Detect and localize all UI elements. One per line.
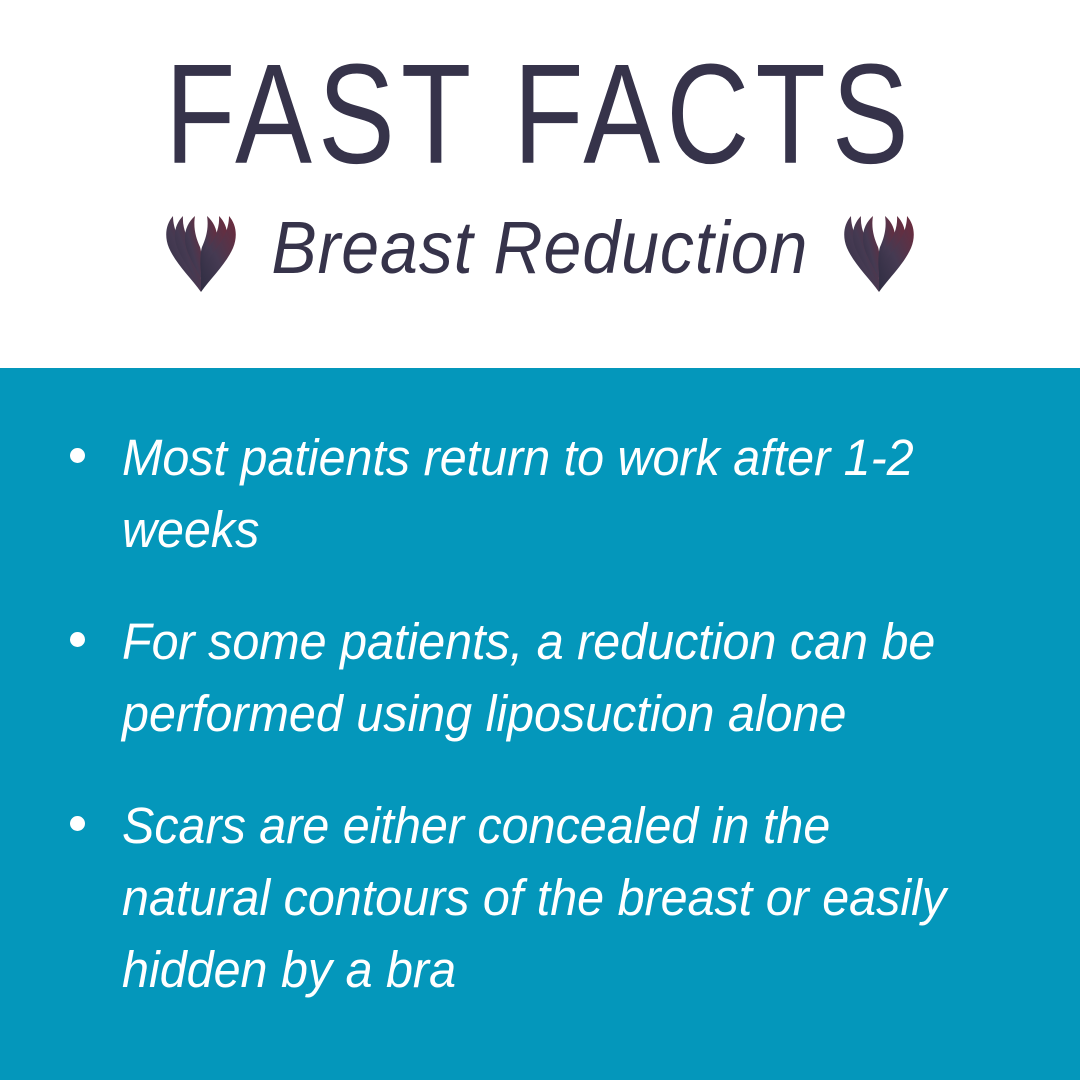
list-item: For some patients, a reduction can be pe… bbox=[58, 606, 1032, 750]
bullet-dot-icon bbox=[70, 448, 85, 463]
list-item: Scars are either concealed in the natura… bbox=[58, 790, 1032, 1006]
fact-text: Most patients return to work after 1-2 w… bbox=[122, 422, 987, 566]
subtitle-row: Breast Reduction bbox=[164, 202, 916, 294]
page-title: FAST FACTS bbox=[165, 44, 915, 186]
fact-text: Scars are either concealed in the natura… bbox=[122, 790, 987, 1006]
fast-facts-poster: FAST FACTS bbox=[0, 0, 1080, 1080]
leaf-feather-logo-left bbox=[164, 202, 238, 294]
list-item: Most patients return to work after 1-2 w… bbox=[58, 422, 1032, 566]
page-subtitle: Breast Reduction bbox=[268, 211, 812, 285]
bullet-dot-icon bbox=[70, 632, 85, 647]
leaf-feather-icon bbox=[842, 202, 916, 294]
facts-list: Most patients return to work after 1-2 w… bbox=[58, 422, 1032, 1006]
leaf-feather-icon bbox=[164, 202, 238, 294]
leaf-feather-logo-right bbox=[842, 202, 916, 294]
facts-panel: Most patients return to work after 1-2 w… bbox=[0, 368, 1080, 1080]
fact-text: For some patients, a reduction can be pe… bbox=[122, 606, 987, 750]
poster-header: FAST FACTS bbox=[0, 0, 1080, 368]
bullet-dot-icon bbox=[70, 816, 85, 831]
